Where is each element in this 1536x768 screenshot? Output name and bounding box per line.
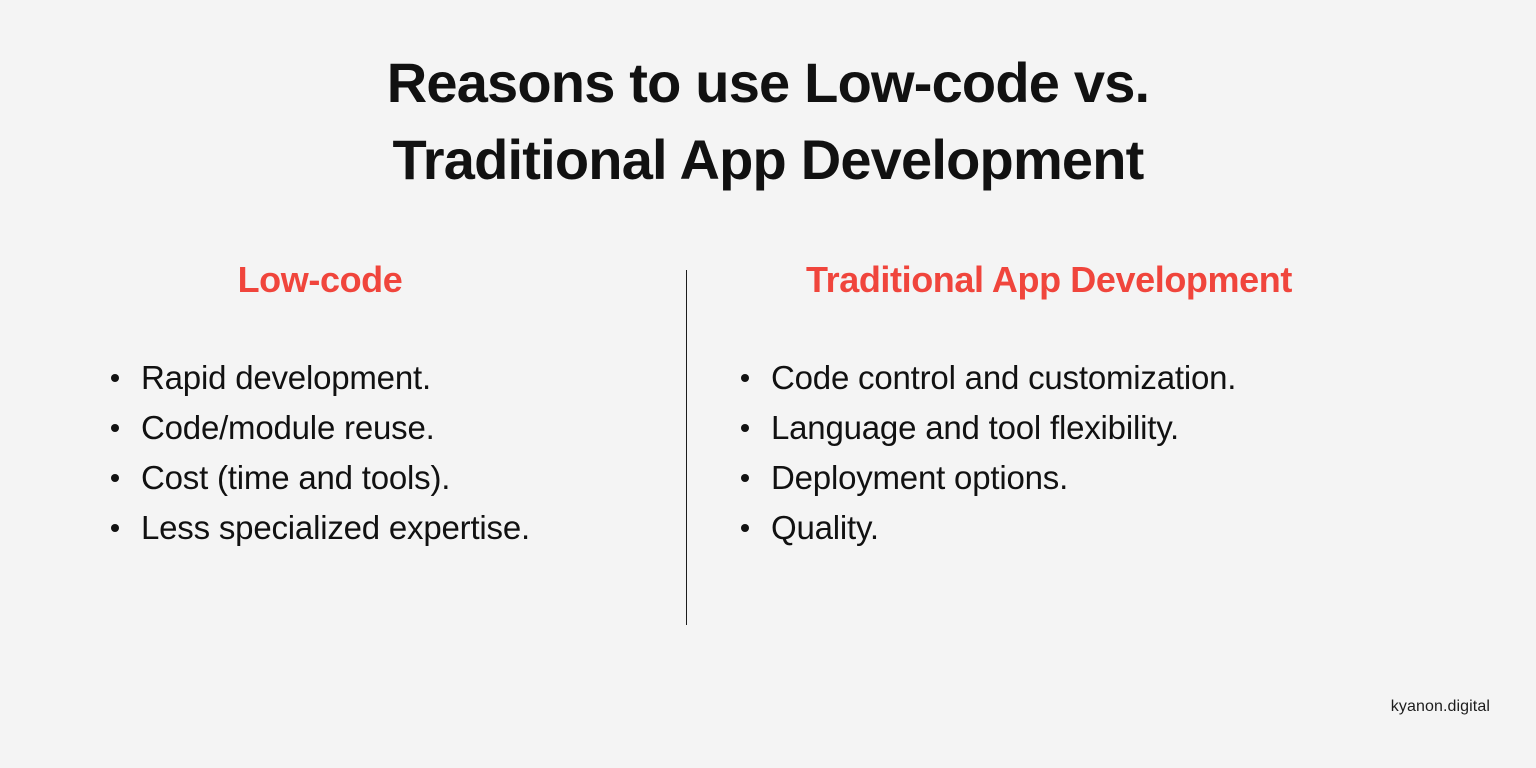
list-item: Rapid development. bbox=[108, 353, 680, 403]
list-item-label: Quality. bbox=[771, 509, 879, 546]
column-divider bbox=[686, 270, 687, 625]
list-item-label: Code control and customization. bbox=[771, 359, 1236, 396]
bullet-dot-icon bbox=[741, 474, 749, 482]
list-item: Deployment options. bbox=[738, 453, 1480, 503]
bullet-dot-icon bbox=[111, 374, 119, 382]
page-title: Reasons to use Low-code vs. Traditional … bbox=[0, 44, 1536, 198]
list-item: Language and tool flexibility. bbox=[738, 403, 1480, 453]
list-item: Less specialized expertise. bbox=[108, 503, 680, 553]
bullet-dot-icon bbox=[741, 424, 749, 432]
column-heading-low-code: Low-code bbox=[60, 258, 680, 302]
comparison-columns: Low-code Rapid development. Code/module … bbox=[0, 258, 1536, 658]
list-item-label: Code/module reuse. bbox=[141, 409, 435, 446]
list-item-label: Cost (time and tools). bbox=[141, 459, 450, 496]
list-item: Code/module reuse. bbox=[108, 403, 680, 453]
list-item: Code control and customization. bbox=[738, 353, 1480, 403]
column-traditional-app-development: Traditional App Development Code control… bbox=[700, 258, 1480, 553]
bullet-dot-icon bbox=[741, 374, 749, 382]
bullet-list-traditional: Code control and customization. Language… bbox=[700, 353, 1480, 553]
bullet-dot-icon bbox=[111, 524, 119, 532]
list-item-label: Rapid development. bbox=[141, 359, 431, 396]
page-title-line-2: Traditional App Development bbox=[0, 121, 1536, 198]
bullet-dot-icon bbox=[111, 474, 119, 482]
bullet-list-low-code: Rapid development. Code/module reuse. Co… bbox=[60, 353, 680, 553]
list-item-label: Deployment options. bbox=[771, 459, 1068, 496]
column-heading-traditional: Traditional App Development bbox=[700, 258, 1480, 302]
footer-watermark: kyanon.digital bbox=[1391, 698, 1490, 716]
bullet-dot-icon bbox=[111, 424, 119, 432]
column-low-code: Low-code Rapid development. Code/module … bbox=[60, 258, 680, 553]
bullet-dot-icon bbox=[741, 524, 749, 532]
list-item: Quality. bbox=[738, 503, 1480, 553]
list-item-label: Less specialized expertise. bbox=[141, 509, 530, 546]
page-title-line-1: Reasons to use Low-code vs. bbox=[0, 44, 1536, 121]
comparison-slide: Reasons to use Low-code vs. Traditional … bbox=[0, 0, 1536, 768]
list-item: Cost (time and tools). bbox=[108, 453, 680, 503]
list-item-label: Language and tool flexibility. bbox=[771, 409, 1179, 446]
